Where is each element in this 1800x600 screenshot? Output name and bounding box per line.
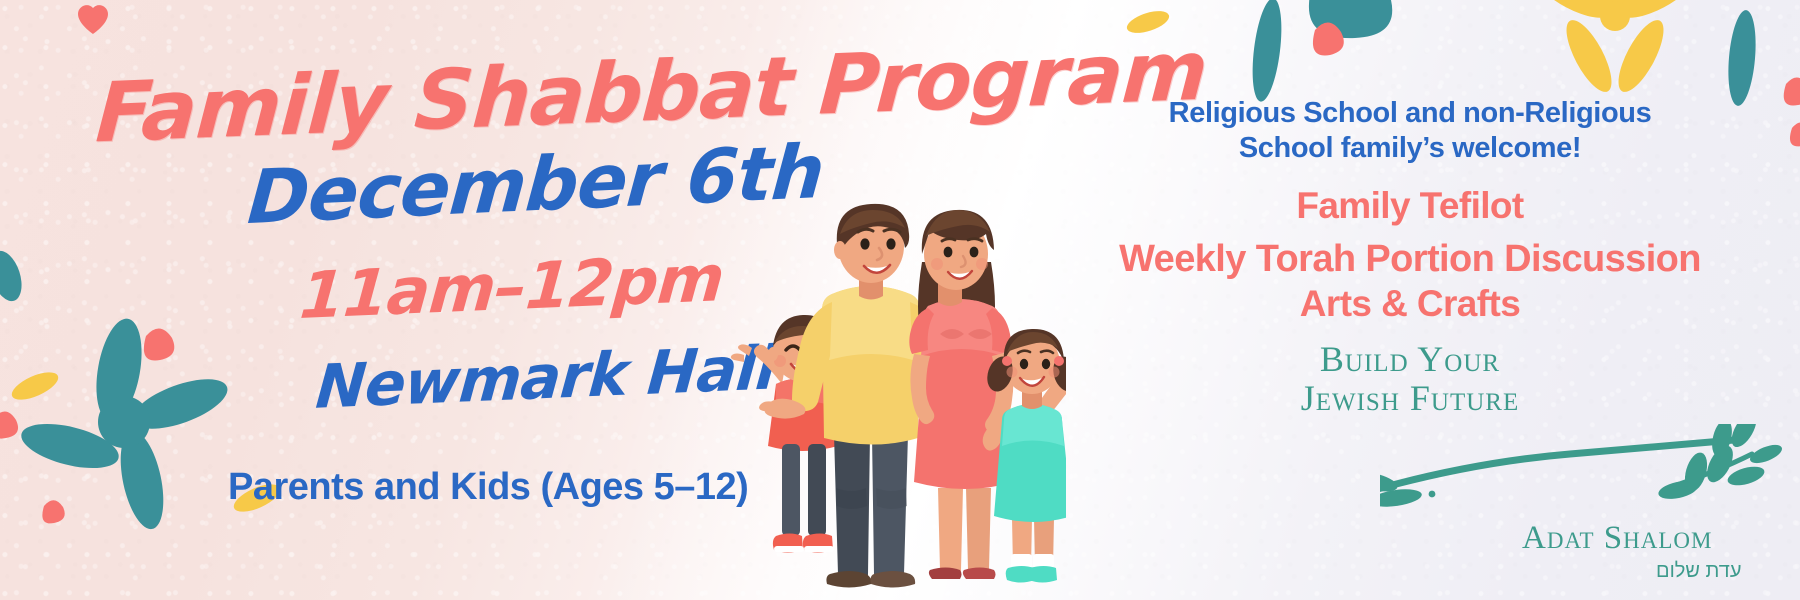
family-illustration xyxy=(716,188,1066,600)
event-venue: Newmark Hall xyxy=(314,338,778,418)
welcome-line-2: School family’s welcome! xyxy=(1020,131,1800,166)
olive-branch-flourish-icon xyxy=(1380,424,1800,534)
program-item-torah-discussion: Weekly Torah Portion Discussion xyxy=(1020,238,1800,281)
program-item-arts-crafts: Arts & Crafts xyxy=(1020,283,1800,324)
welcome-note: Religious School and non-Religious Schoo… xyxy=(1020,96,1800,167)
program-item-tefilot: Family Tefilot xyxy=(1020,185,1800,226)
organization-logo: Adat Shalom עדת שלום xyxy=(1380,424,1800,600)
left-text-column: Family Shabbat Program December 6th 11am… xyxy=(0,0,760,600)
tagline-line-1: Build Your xyxy=(1020,340,1800,379)
logo-hebrew-name: עדת שלום xyxy=(1656,560,1741,583)
welcome-line-1: Religious School and non-Religious xyxy=(1020,96,1800,131)
logo-name: Adat Shalom xyxy=(1522,520,1712,557)
right-text-column: Religious School and non-Religious Schoo… xyxy=(1020,96,1800,418)
mother-figure xyxy=(909,210,1014,579)
audience-line: Parents and Kids (Ages 5–12) xyxy=(228,466,748,509)
tagline-line-2: Jewish Future xyxy=(1020,379,1800,418)
event-time: 11am–12pm xyxy=(298,247,726,329)
organization-tagline: Build Your Jewish Future xyxy=(1020,340,1800,418)
promotional-banner: Family Shabbat Program December 6th 11am… xyxy=(0,0,1800,600)
